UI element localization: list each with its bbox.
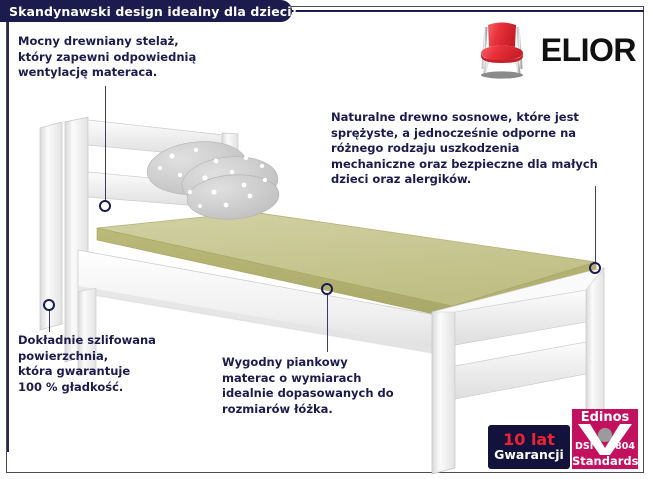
annotation-line: Wygodny piankowy xyxy=(222,355,442,371)
annotation-pine-wood: Naturalne drewno sosnowe, które jest spr… xyxy=(331,110,631,188)
annotation-line: idealnie dopasowanych do xyxy=(222,386,442,402)
warranty-badge: 10 lat Gwarancji xyxy=(488,425,570,469)
brand-logo: ELIOR xyxy=(450,14,636,86)
leader-line-pine xyxy=(595,186,596,264)
annotation-sanded-surface: Dokładnie szlifowana powierzchnia, która… xyxy=(18,333,218,395)
banner-rule xyxy=(292,10,644,12)
brand-name: ELIOR xyxy=(541,34,636,66)
warranty-label: Gwarancji xyxy=(494,448,564,462)
callout-dot-frame xyxy=(99,200,111,212)
annotation-line: powierzchnia, xyxy=(18,349,218,365)
annotation-line: Naturalne drewno sosnowe, które jest xyxy=(331,110,631,126)
annotation-line: wentylację materaca. xyxy=(18,65,258,81)
annotation-frame-ventilation: Mocny drewniany stelaż, który zapewni od… xyxy=(18,34,258,81)
annotation-foam-mattress: Wygodny piankowy materac o wymiarach ide… xyxy=(222,355,442,417)
leader-line-mattress xyxy=(327,294,328,352)
edinos-brand: Edinos xyxy=(581,410,630,425)
annotation-line: 100 % gładkość. xyxy=(18,380,218,396)
edinos-standards-label: Standards xyxy=(572,454,638,468)
red-chair-icon xyxy=(469,17,535,83)
annotation-line: sprężyste, a jednocześnie odporne na xyxy=(331,126,631,142)
leader-line-sanded xyxy=(49,310,50,332)
annotation-line: Dokładnie szlifowana xyxy=(18,333,218,349)
edinos-standards-badge: Edinos DSI 804 Standards xyxy=(572,409,638,469)
annotation-line: który zapewni odpowiednią xyxy=(18,50,258,66)
callout-dot-sanded xyxy=(43,299,55,311)
certification-badges: 10 lat Gwarancji Edinos DSI 804 Standard… xyxy=(488,409,638,469)
annotation-line: różnego rodzaju uszkodzenia xyxy=(331,141,631,157)
edinos-number: 804 xyxy=(615,441,635,452)
annotation-line: Mocny drewniany stelaż, xyxy=(18,34,258,50)
annotation-line: rozmiarów łóżka. xyxy=(222,402,442,418)
leader-line-frame xyxy=(105,86,106,201)
warranty-years: 10 lat xyxy=(503,432,555,448)
annotation-line: która gwarantuje xyxy=(18,364,218,380)
annotation-line: mechaniczne oraz bezpieczne dla małych xyxy=(331,157,631,173)
product-infographic: Skandynawski design idealny dla dzieci! xyxy=(0,0,650,479)
headline-banner: Skandynawski design idealny dla dzieci! xyxy=(0,0,292,22)
annotation-line: materac o wymiarach xyxy=(222,371,442,387)
headline-text: Skandynawski design idealny dla dzieci! xyxy=(9,4,298,19)
annotation-line: dzieci oraz alergików. xyxy=(331,172,631,188)
edinos-dsi-label: DSI xyxy=(575,441,593,452)
callout-dot-pine xyxy=(589,262,601,274)
callout-dot-mattress xyxy=(321,283,333,295)
